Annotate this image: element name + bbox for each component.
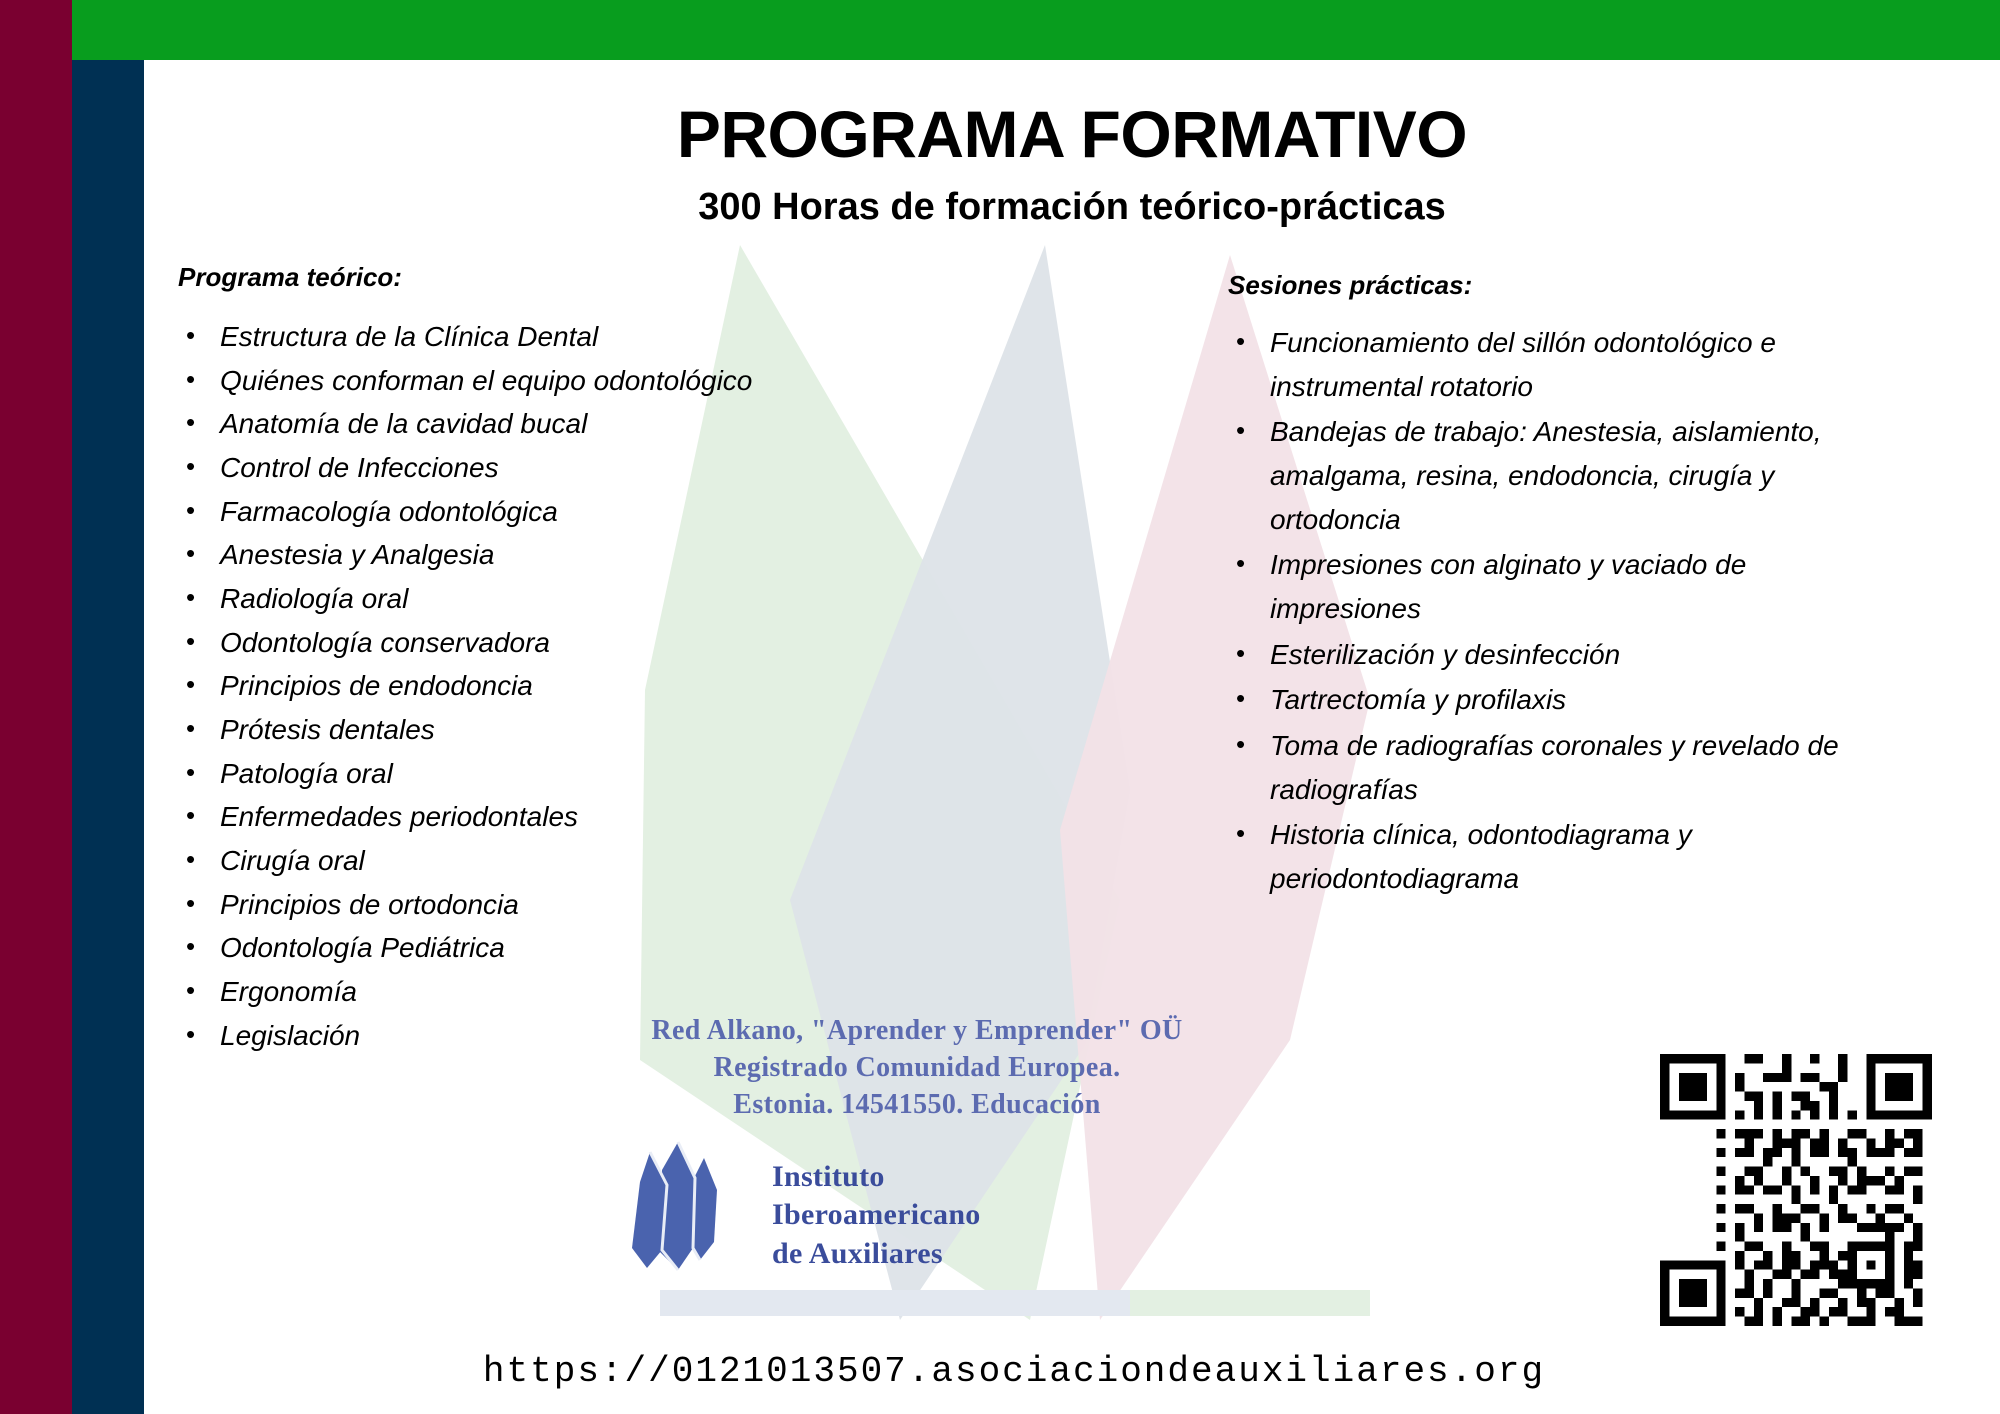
page-title: PROGRAMA FORMATIVO — [144, 96, 2000, 172]
list-item: Farmacología odontológica — [178, 490, 818, 534]
shape-green-strip — [1130, 1290, 1370, 1316]
top-green-bar — [72, 0, 2000, 60]
list-item: Radiología oral — [178, 577, 818, 621]
list-item: Odontología Pediátrica — [178, 926, 818, 970]
list-item: Principios de ortodoncia — [178, 883, 818, 927]
left-maroon-bar — [0, 0, 72, 1414]
shape-gray-strip — [660, 1290, 1130, 1316]
institute-name: Instituto Iberoamericano de Auxiliares — [772, 1130, 981, 1273]
list-item: Historia clínica, odontodiagrama y perio… — [1228, 813, 1868, 900]
list-item: Anatomía de la cavidad bucal — [178, 402, 818, 446]
list-item: Odontología conservadora — [178, 621, 818, 665]
theory-program-column: Programa teórico: Estructura de la Clíni… — [178, 262, 818, 1057]
institute-name-line-3: de Auxiliares — [772, 1235, 981, 1273]
website-url[interactable]: https://0121013507.asociaciondeauxiliare… — [144, 1351, 1884, 1392]
list-item: Ergonomía — [178, 970, 818, 1014]
registration-line-3: Estonia. 14541550. Educación — [614, 1086, 1220, 1123]
qr-code-icon[interactable] — [1660, 1054, 1932, 1326]
list-item: Estructura de la Clínica Dental — [178, 315, 818, 359]
list-item: Control de Infecciones — [178, 446, 818, 490]
registration-line-2: Registrado Comunidad Europea. — [614, 1049, 1220, 1086]
left-navy-bar — [72, 60, 144, 1414]
theory-program-list: Estructura de la Clínica Dental Quiénes … — [178, 315, 818, 1057]
registration-line-1: Red Alkano, "Aprender y Emprender" OÜ — [614, 1012, 1220, 1049]
list-item: Anestesia y Analgesia — [178, 533, 818, 577]
list-item: Toma de radiografías coronales y revelad… — [1228, 724, 1868, 811]
three-flames-icon — [600, 1130, 750, 1280]
list-item: Quiénes conforman el equipo odontológico — [178, 359, 818, 403]
institute-name-line-2: Iberoamericano — [772, 1196, 981, 1234]
list-item: Tartrectomía y profilaxis — [1228, 678, 1868, 722]
theory-program-heading: Programa teórico: — [178, 262, 818, 293]
poster-canvas: PROGRAMA FORMATIVO 300 Horas de formació… — [0, 0, 2000, 1414]
practical-sessions-list: Funcionamiento del sillón odontológico e… — [1228, 321, 1868, 901]
page-subtitle: 300 Horas de formación teórico-prácticas — [144, 186, 2000, 229]
list-item: Enfermedades periodontales — [178, 795, 818, 839]
list-item: Cirugía oral — [178, 839, 818, 883]
list-item: Prótesis dentales — [178, 708, 818, 752]
list-item: Principios de endodoncia — [178, 664, 818, 708]
organisation-logo-block: Red Alkano, "Aprender y Emprender" OÜ Re… — [600, 1012, 1220, 1124]
institute-identity: Instituto Iberoamericano de Auxiliares — [600, 1130, 1220, 1280]
practical-sessions-column: Sesiones prácticas: Funcionamiento del s… — [1228, 270, 1868, 903]
list-item: Patología oral — [178, 752, 818, 796]
practical-sessions-heading: Sesiones prácticas: — [1228, 270, 1868, 301]
institute-name-line-1: Instituto — [772, 1158, 981, 1196]
list-item: Esterilización y desinfección — [1228, 633, 1868, 677]
list-item: Funcionamiento del sillón odontológico e… — [1228, 321, 1868, 408]
list-item: Bandejas de trabajo: Anestesia, aislamie… — [1228, 410, 1868, 541]
list-item: Impresiones con alginato y vaciado de im… — [1228, 543, 1868, 630]
